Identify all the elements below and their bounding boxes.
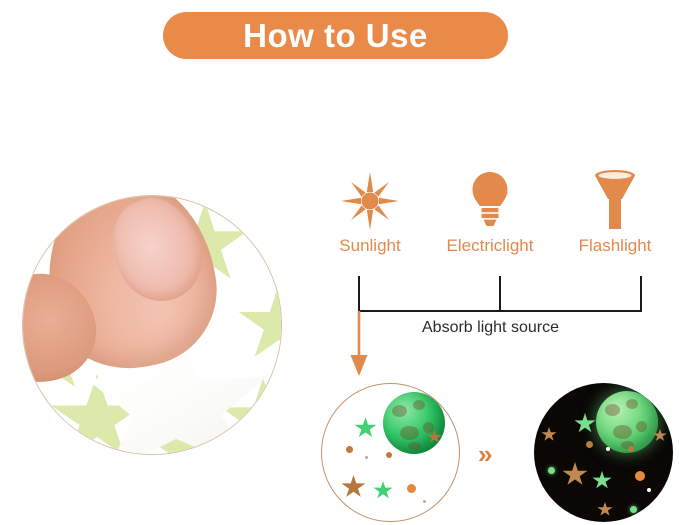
glow-moon (383, 392, 445, 454)
moon-crater (413, 400, 425, 410)
green-star (592, 471, 612, 490)
dot (365, 456, 368, 459)
dot (606, 447, 610, 451)
down-arrow-icon (351, 311, 368, 376)
moon-crater (605, 404, 620, 416)
dot (586, 441, 593, 448)
tan-star (341, 475, 366, 499)
dot (386, 452, 392, 458)
dot (628, 446, 634, 452)
green-star (574, 413, 596, 434)
tan-star (541, 427, 557, 442)
daylight-sticker-view (321, 383, 460, 522)
moon-crater (400, 426, 419, 440)
dot (635, 471, 645, 481)
green-star (354, 417, 377, 439)
moon-crater (423, 422, 434, 433)
dot (630, 506, 637, 513)
dot (647, 488, 651, 492)
glow-in-dark-view (534, 383, 673, 522)
tan-star (562, 462, 588, 487)
moon-crater (408, 442, 421, 450)
absorb-caption: Absorb light source (422, 319, 559, 337)
glow-moon (596, 391, 658, 453)
green-star (373, 481, 393, 500)
double-chevron-right-icon: » (478, 441, 489, 467)
moon-crater (636, 421, 647, 432)
dot (423, 500, 426, 503)
moon-crater (392, 405, 407, 417)
moon-crater (613, 425, 632, 439)
tan-star (597, 502, 613, 517)
dot (346, 446, 353, 453)
dot (548, 467, 555, 474)
dot (407, 484, 416, 493)
moon-crater (626, 399, 638, 409)
